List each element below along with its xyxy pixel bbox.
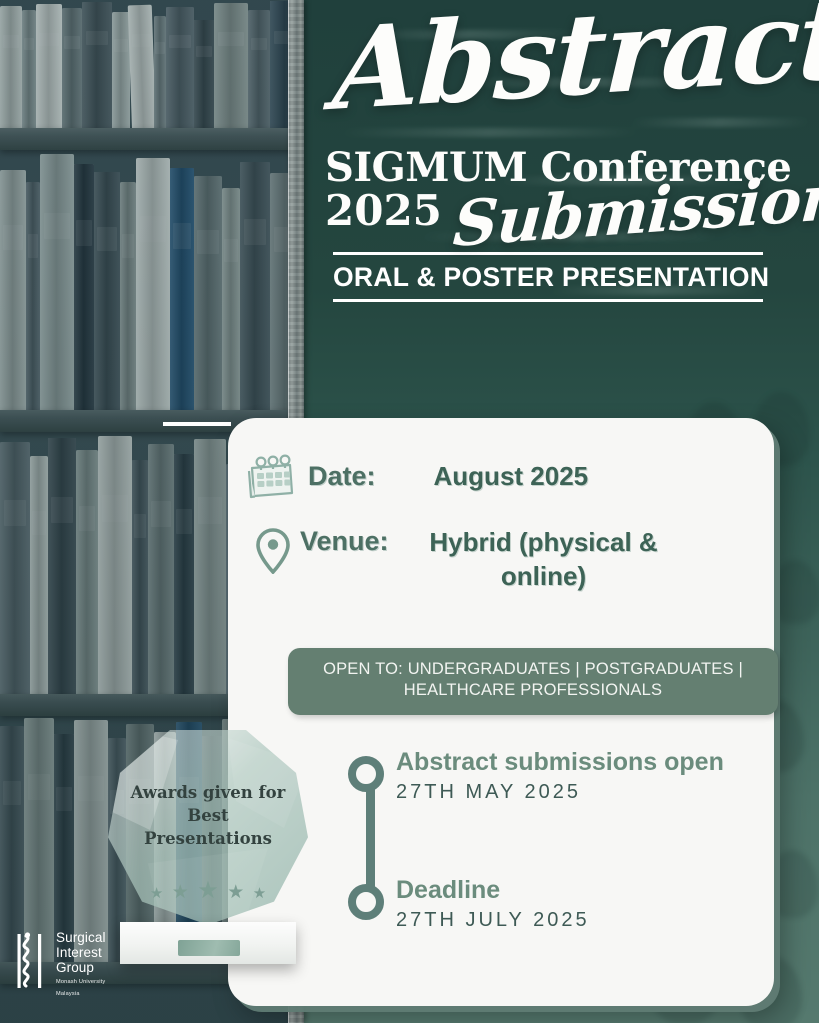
card-accent-line: [163, 422, 231, 426]
trophy-stars: ★ ★ ★ ★ ★: [108, 876, 308, 905]
timeline-dot-deadline: [348, 884, 384, 920]
star-icon: ★: [227, 881, 244, 904]
timeline-item: Abstract submissions open 27TH MAY 2025: [396, 748, 724, 804]
logo-line-2: Interest: [56, 945, 106, 960]
poster-root: Abstract SIGMUM Conference 2025 Submissi…: [0, 0, 819, 1023]
location-pin-icon: [256, 528, 290, 574]
star-icon: ★: [253, 884, 266, 902]
timeline-date: 27TH JULY 2025: [396, 909, 590, 932]
venue-value: Hybrid (physical & online): [399, 526, 689, 594]
logo-subtitle-1: Monash University: [56, 979, 106, 987]
timeline-title: Deadline: [396, 876, 590, 905]
logo-wordmark: Surgical Interest Group Monash Universit…: [56, 930, 106, 998]
sig-logo: Surgical Interest Group Monash Universit…: [14, 930, 144, 1010]
divider-bottom: [333, 299, 763, 302]
star-icon: ★: [197, 876, 219, 905]
calendar-icon: [246, 452, 300, 500]
star-icon: ★: [172, 881, 189, 904]
timeline-date: 27TH MAY 2025: [396, 781, 724, 804]
timeline-dot-open: [348, 756, 384, 792]
venue-row: Venue: Hybrid (physical & online): [246, 526, 758, 594]
conference-year: 2025: [325, 186, 442, 235]
rod-of-asclepius-icon: [14, 930, 50, 992]
trophy-text: Awards given for Best Presentations: [108, 782, 308, 850]
logo-subtitle-2: Malaysia: [56, 991, 106, 999]
presentation-types-label: ORAL & POSTER PRESENTATION: [333, 262, 763, 293]
date-row: Date: August 2025: [246, 452, 756, 500]
venue-label: Venue:: [300, 526, 389, 557]
open-to-badge: OPEN TO: UNDERGRADUATES | POSTGRADUATES …: [288, 648, 778, 715]
trophy-nameplate: [178, 940, 240, 956]
page-title: Abstract: [331, 0, 799, 123]
trophy-line-1: Awards given for: [108, 782, 308, 805]
logo-line-3: Group: [56, 960, 106, 975]
date-value: August 2025: [434, 461, 589, 492]
timeline-connector: [366, 774, 375, 900]
year-and-subtitle: 2025 Submission: [325, 188, 795, 250]
poster-header: Abstract SIGMUM Conference 2025 Submissi…: [325, 18, 795, 302]
date-label: Date:: [308, 461, 376, 492]
trophy-line-3: Presentations: [108, 828, 308, 851]
logo-line-1: Surgical: [56, 930, 106, 945]
trophy-line-2: Best: [108, 805, 308, 828]
timeline-title: Abstract submissions open: [396, 748, 724, 777]
star-icon: ★: [150, 884, 163, 902]
timeline-item: Deadline 27TH JULY 2025: [396, 876, 590, 932]
